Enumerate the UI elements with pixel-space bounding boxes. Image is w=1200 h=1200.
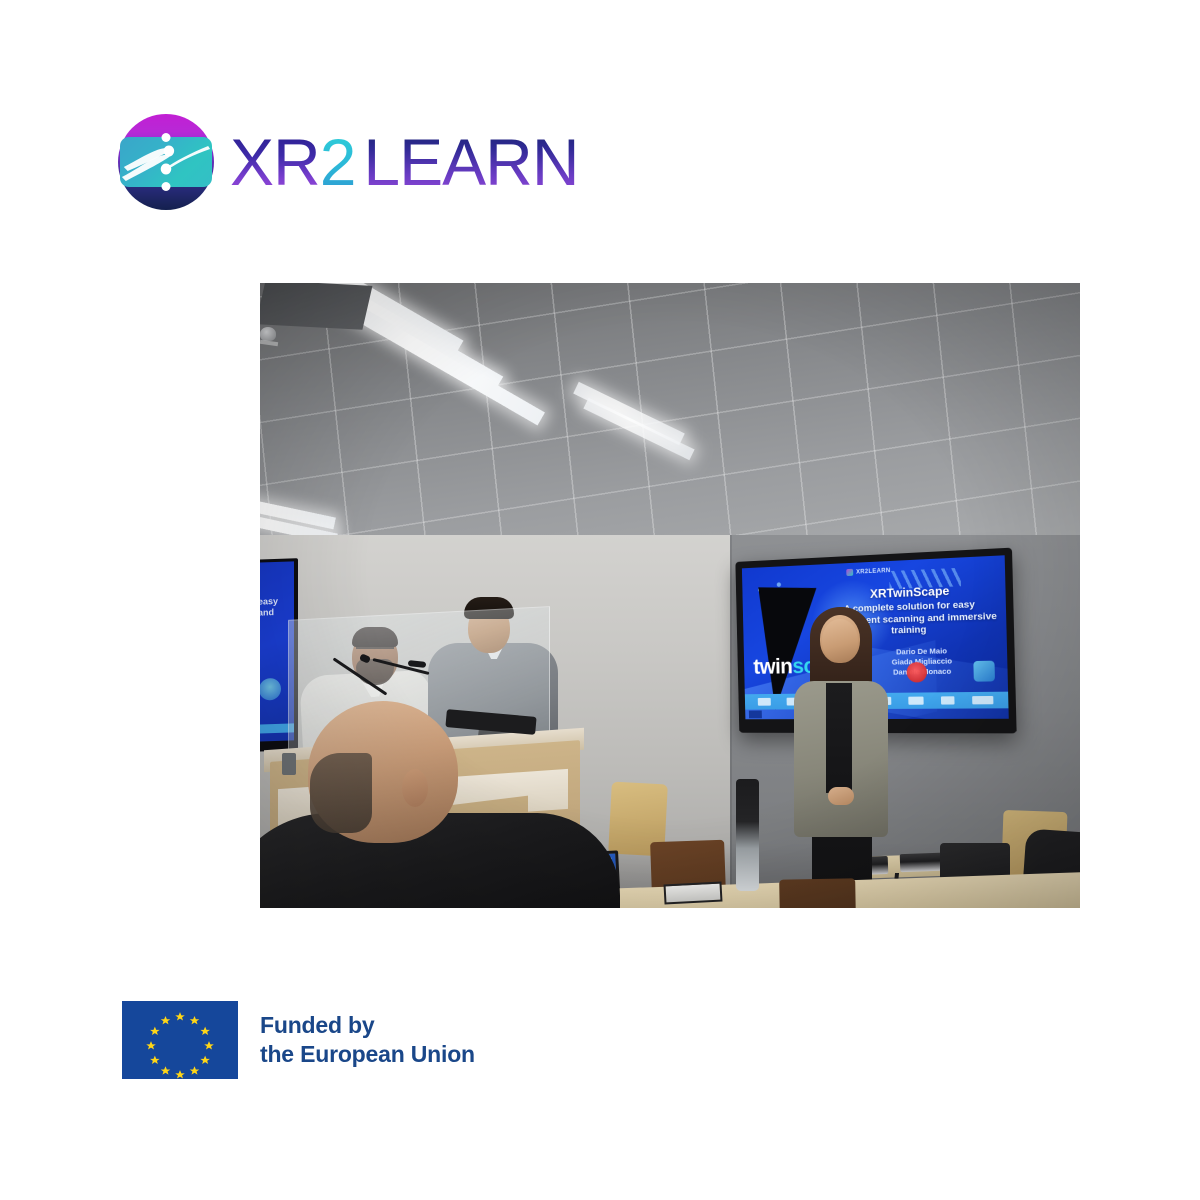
logobar-logo	[908, 697, 923, 705]
eu-funding-text: Funded by the European Union	[260, 1011, 475, 1068]
wordmark-learn: LEARN	[363, 129, 578, 195]
ceiling-vent	[260, 283, 372, 330]
slide-eu-flag-icon	[749, 711, 762, 719]
ceiling	[260, 283, 1080, 543]
eu-funding-lockup: Funded by the European Union	[122, 1001, 475, 1079]
wordmark-two: 2	[320, 129, 356, 195]
eu-funding-line-2: the European Union	[260, 1040, 475, 1069]
logo-notch-bottom	[162, 182, 171, 191]
podium-glass-clip	[282, 753, 296, 775]
water-bottle	[736, 779, 759, 891]
slide-brand-icon	[846, 569, 853, 576]
logo-swoosh-icon	[120, 137, 212, 187]
twinscape-logo-twin: twin	[753, 654, 793, 679]
foreground-audience-ear	[402, 769, 428, 807]
secondary-display-text: easy and	[260, 596, 278, 619]
logobar-logo	[972, 696, 993, 704]
partner-logo-icon	[973, 661, 995, 682]
partner-logo-icon	[906, 662, 927, 683]
xr2learn-logo-mark	[118, 114, 214, 210]
secondary-display-line-1: easy	[260, 596, 278, 608]
xr2learn-brand-lockup: XR 2 LEARN	[118, 114, 578, 210]
secondary-display-line-2: and	[260, 607, 278, 619]
standing-woman-front	[826, 683, 852, 793]
xr2learn-wordmark: XR 2 LEARN	[230, 129, 578, 195]
slide-brand-label: XR2LEARN	[846, 567, 890, 576]
slide-brand-text: XR2LEARN	[856, 568, 891, 576]
standing-woman-hands	[828, 787, 854, 805]
foreground-audience-body	[260, 813, 620, 908]
wordmark-xr: XR	[230, 129, 320, 195]
eu-funding-line-1: Funded by	[260, 1011, 475, 1040]
logobar-logo	[758, 698, 771, 706]
chair	[779, 878, 857, 908]
tablet-device	[664, 881, 723, 904]
logobar-logo	[941, 696, 955, 704]
secondary-display-logo	[260, 678, 281, 701]
logo-teal-plate	[120, 137, 212, 187]
foreground-audience-hair	[310, 753, 372, 833]
conference-room-presentation-photo: easy and XR2LEARN twinscape XRTwinScape	[260, 283, 1080, 908]
eu-flag-stars-icon	[122, 1001, 238, 1079]
standing-woman-face	[822, 619, 858, 661]
logo-notch-top	[162, 133, 171, 142]
european-union-flag	[122, 1001, 238, 1079]
